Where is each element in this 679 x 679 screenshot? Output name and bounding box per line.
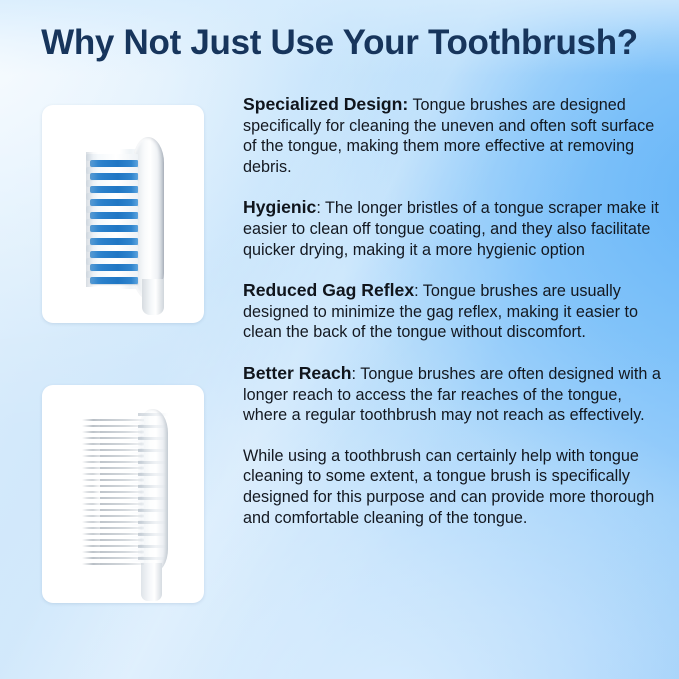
bristle-tip-shading [86, 152, 98, 287]
brush-neck [141, 563, 162, 601]
benefit-body-text: While using a toothbrush can certainly h… [243, 447, 654, 527]
brush-neck [142, 279, 164, 315]
blue-white-tongue-brush-head-image [42, 105, 204, 323]
head-notch [138, 413, 168, 416]
benefit-heading: Hygienic [243, 197, 316, 217]
benefit-paragraph: Reduced Gag Reflex: Tongue brushes are u… [243, 280, 665, 343]
bristle-fan-highlight [78, 415, 100, 571]
infographic-root: Why Not Just Use Your Toothbrush? Specia… [0, 0, 679, 679]
product-image-card-clear-toothbrush [42, 385, 204, 603]
product-image-card-blue-tongue-brush [42, 105, 204, 323]
benefit-heading: Better Reach [243, 363, 352, 383]
clear-white-toothbrush-head-image [42, 385, 204, 603]
page-title: Why Not Just Use Your Toothbrush? [0, 23, 679, 63]
benefits-copy-column: Specialized Design: Tongue brushes are d… [243, 94, 665, 528]
benefit-paragraph: Specialized Design: Tongue brushes are d… [243, 94, 665, 177]
benefit-paragraph: While using a toothbrush can certainly h… [243, 446, 665, 528]
benefit-paragraph: Hygienic: The longer bristles of a tongu… [243, 197, 665, 260]
benefit-heading: Specialized Design: [243, 94, 408, 114]
benefit-paragraph: Better Reach: Tongue brushes are often d… [243, 363, 665, 426]
benefit-heading: Reduced Gag Reflex [243, 280, 414, 300]
